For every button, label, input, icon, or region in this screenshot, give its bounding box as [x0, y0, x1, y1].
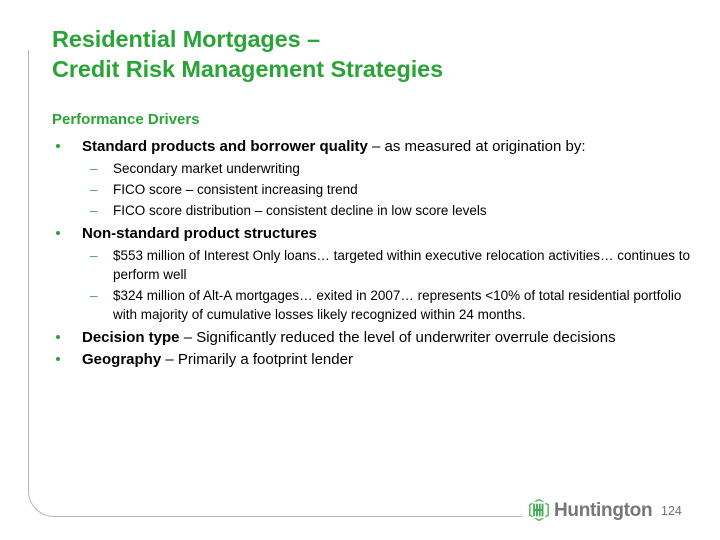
- bullet-lead: Standard products and borrower quality: [82, 138, 368, 155]
- huntington-wordmark: Huntington: [554, 501, 652, 520]
- sub-bullet-text: FICO score distribution – consistent dec…: [113, 203, 487, 218]
- bullet-list: Standard products and borrower quality –…: [52, 136, 692, 370]
- sub-bullet-item: – $553 million of Interest Only loans… t…: [82, 246, 692, 284]
- sub-bullet-list: – Secondary market underwriting – FICO s…: [82, 159, 692, 220]
- bullet-item: Geography – Primarily a footprint lender: [52, 349, 692, 370]
- sub-bullet-text: Secondary market underwriting: [113, 161, 300, 176]
- page-title: Residential Mortgages – Credit Risk Mana…: [52, 24, 672, 84]
- sub-bullet-list: – $553 million of Interest Only loans… t…: [82, 246, 692, 324]
- page-title-line-2: Credit Risk Management Strategies: [52, 54, 672, 84]
- section-heading: Performance Drivers: [52, 110, 692, 130]
- sub-bullet-dash-icon: –: [90, 246, 98, 265]
- bullet-rest: – Significantly reduced the level of und…: [180, 329, 616, 346]
- sub-bullet-item: – Secondary market underwriting: [82, 159, 692, 178]
- bullet-dot-icon: [56, 335, 60, 339]
- huntington-h-icon: [528, 499, 550, 521]
- sub-bullet-item: – $324 million of Alt-A mortgages… exite…: [82, 286, 692, 324]
- bullet-dot-icon: [56, 357, 60, 361]
- sub-bullet-text: $553 million of Interest Only loans… tar…: [113, 248, 690, 282]
- sub-bullet-dash-icon: –: [90, 159, 98, 178]
- bullet-item: Decision type – Significantly reduced th…: [52, 327, 692, 348]
- bullet-rest: – Primarily a footprint lender: [161, 351, 353, 368]
- bullet-dot-icon: [56, 231, 60, 235]
- footer-divider: [54, 516, 522, 517]
- bullet-item: Non-standard product structures – $553 m…: [52, 223, 692, 324]
- slide: Residential Mortgages – Credit Risk Mana…: [0, 0, 720, 540]
- bullet-lead: Non-standard product structures: [82, 225, 317, 242]
- slide-body: Performance Drivers Standard products an…: [52, 110, 692, 371]
- bullet-lead: Decision type: [82, 329, 180, 346]
- sub-bullet-dash-icon: –: [90, 286, 98, 305]
- page-number: 124: [661, 504, 682, 518]
- bullet-lead: Geography: [82, 351, 161, 368]
- sub-bullet-dash-icon: –: [90, 180, 98, 199]
- bullet-dot-icon: [56, 144, 60, 148]
- huntington-logo: Huntington: [528, 499, 652, 521]
- page-title-line-1: Residential Mortgages –: [52, 24, 672, 54]
- bullet-rest: – as measured at origination by:: [368, 138, 586, 155]
- sub-bullet-text: $324 million of Alt-A mortgages… exited …: [113, 288, 681, 322]
- bullet-item: Standard products and borrower quality –…: [52, 136, 692, 220]
- sub-bullet-item: – FICO score distribution – consistent d…: [82, 201, 692, 220]
- sub-bullet-dash-icon: –: [90, 201, 98, 220]
- sub-bullet-text: FICO score – consistent increasing trend: [113, 182, 358, 197]
- sub-bullet-item: – FICO score – consistent increasing tre…: [82, 180, 692, 199]
